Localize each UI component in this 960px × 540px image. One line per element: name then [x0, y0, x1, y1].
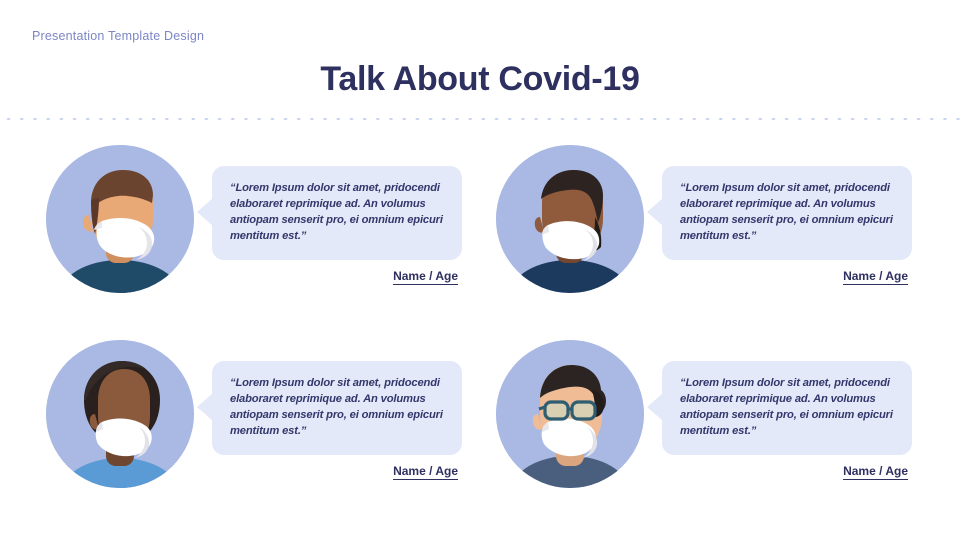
name-age-text: Name / Age	[843, 464, 908, 480]
speech-bubble-wrap: “Lorem Ipsum dolor sit amet, pridocendi …	[662, 166, 912, 283]
speech-bubble-wrap: “Lorem Ipsum dolor sit amet, pridocendi …	[212, 361, 462, 478]
speech-bubble: “Lorem Ipsum dolor sit amet, pridocendi …	[212, 361, 462, 455]
testimonial-grid: “Lorem Ipsum dolor sit amet, pridocendi …	[0, 140, 960, 510]
testimonial-card: “Lorem Ipsum dolor sit amet, pridocendi …	[472, 335, 922, 510]
name-age-text: Name / Age	[393, 269, 458, 285]
name-age-text: Name / Age	[393, 464, 458, 480]
speech-bubble: “Lorem Ipsum dolor sit amet, pridocendi …	[212, 166, 462, 260]
quote-text: “Lorem Ipsum dolor sit amet, pridocendi …	[680, 180, 896, 244]
name-age-label[interactable]: Name / Age	[212, 464, 462, 478]
kicker-text: Presentation Template Design	[32, 29, 204, 43]
speech-bubble-wrap: “Lorem Ipsum dolor sit amet, pridocendi …	[212, 166, 462, 283]
quote-text: “Lorem Ipsum dolor sit amet, pridocendi …	[230, 180, 446, 244]
speech-bubble: “Lorem Ipsum dolor sit amet, pridocendi …	[662, 361, 912, 455]
avatar-man-dark-skin	[496, 145, 644, 293]
testimonial-card: “Lorem Ipsum dolor sit amet, pridocendi …	[22, 140, 472, 315]
avatar-man-brown-hair	[46, 145, 194, 293]
avatar-person-glasses	[496, 340, 644, 488]
name-age-label[interactable]: Name / Age	[212, 269, 462, 283]
testimonial-card: “Lorem Ipsum dolor sit amet, pridocendi …	[472, 140, 922, 315]
dotted-divider	[0, 116, 960, 122]
quote-text: “Lorem Ipsum dolor sit amet, pridocendi …	[680, 375, 896, 439]
page-title: Talk About Covid-19	[0, 60, 960, 99]
name-age-label[interactable]: Name / Age	[662, 269, 912, 283]
testimonial-card: “Lorem Ipsum dolor sit amet, pridocendi …	[22, 335, 472, 510]
avatar-woman-afro	[46, 340, 194, 488]
quote-text: “Lorem Ipsum dolor sit amet, pridocendi …	[230, 375, 446, 439]
name-age-text: Name / Age	[843, 269, 908, 285]
name-age-label[interactable]: Name / Age	[662, 464, 912, 478]
glasses-icon	[539, 402, 595, 419]
speech-bubble-wrap: “Lorem Ipsum dolor sit amet, pridocendi …	[662, 361, 912, 478]
speech-bubble: “Lorem Ipsum dolor sit amet, pridocendi …	[662, 166, 912, 260]
